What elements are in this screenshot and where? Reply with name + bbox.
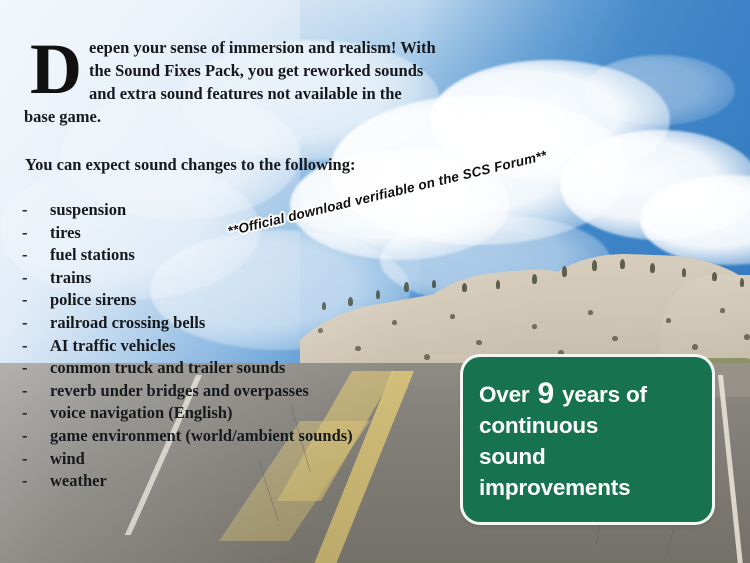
list-item: -railroad crossing bells [22, 313, 353, 336]
list-item-label: tires [50, 223, 81, 243]
bullet-dash: - [22, 403, 50, 423]
text-overlay: D eepen your sense of immersion and real… [0, 0, 750, 563]
list-item: -game environment (world/ambient sounds) [22, 426, 353, 449]
list-item: -police sirens [22, 290, 353, 313]
list-item: -fuel stations [22, 245, 353, 268]
list-item-label: reverb under bridges and overpasses [50, 381, 309, 401]
list-item-label: suspension [50, 200, 126, 220]
bullet-dash: - [22, 449, 50, 469]
bullet-dash: - [22, 358, 50, 378]
list-item-label: fuel stations [50, 245, 135, 265]
bullet-dash: - [22, 381, 50, 401]
bullet-dash: - [22, 336, 50, 356]
highway-sign: Over 9 years of continuous sound improve… [463, 357, 712, 522]
list-item-label: AI traffic vehicles [50, 336, 176, 356]
sign-over-label: Over [479, 382, 529, 407]
list-item-label: voice navigation (English) [50, 403, 232, 423]
bullet-dash: - [22, 471, 50, 491]
list-item-label: common truck and trailer sounds [50, 358, 285, 378]
list-item-label: weather [50, 471, 107, 491]
sign-years-of-label: years of [562, 382, 647, 407]
poster-image: D eepen your sense of immersion and real… [0, 0, 750, 563]
sign-line-2: continuous [479, 410, 712, 441]
list-item-label: game environment (world/ambient sounds) [50, 426, 353, 446]
list-item: -weather [22, 471, 353, 494]
bullet-dash: - [22, 245, 50, 265]
drop-cap-letter: D [30, 38, 82, 100]
bullet-dash: - [22, 313, 50, 333]
list-item: -tires [22, 223, 353, 246]
list-item: -trains [22, 268, 353, 291]
list-item: -AI traffic vehicles [22, 336, 353, 359]
list-item: -wind [22, 449, 353, 472]
sign-text-block: Over 9 years of continuous sound improve… [479, 379, 712, 503]
expectations-heading: You can expect sound changes to the foll… [25, 155, 355, 175]
list-item-label: railroad crossing bells [50, 313, 205, 333]
list-item: -reverb under bridges and overpasses [22, 381, 353, 404]
bullet-dash: - [22, 223, 50, 243]
intro-paragraph: D eepen your sense of immersion and real… [24, 36, 436, 128]
list-item-label: trains [50, 268, 91, 288]
sign-line-1: Over 9 years of [479, 379, 712, 410]
bullet-dash: - [22, 268, 50, 288]
bullet-dash: - [22, 290, 50, 310]
feature-list: -suspension -tires -fuel stations -train… [22, 200, 353, 494]
sign-years-number: 9 [536, 377, 557, 410]
list-item-label: wind [50, 449, 85, 469]
list-item-label: police sirens [50, 290, 136, 310]
intro-body-text: eepen your sense of immersion and realis… [24, 38, 436, 126]
list-item: -voice navigation (English) [22, 403, 353, 426]
sign-line-4: improvements [479, 472, 712, 503]
list-item: -common truck and trailer sounds [22, 358, 353, 381]
bullet-dash: - [22, 426, 50, 446]
sign-line-3: sound [479, 441, 712, 472]
bullet-dash: - [22, 200, 50, 220]
